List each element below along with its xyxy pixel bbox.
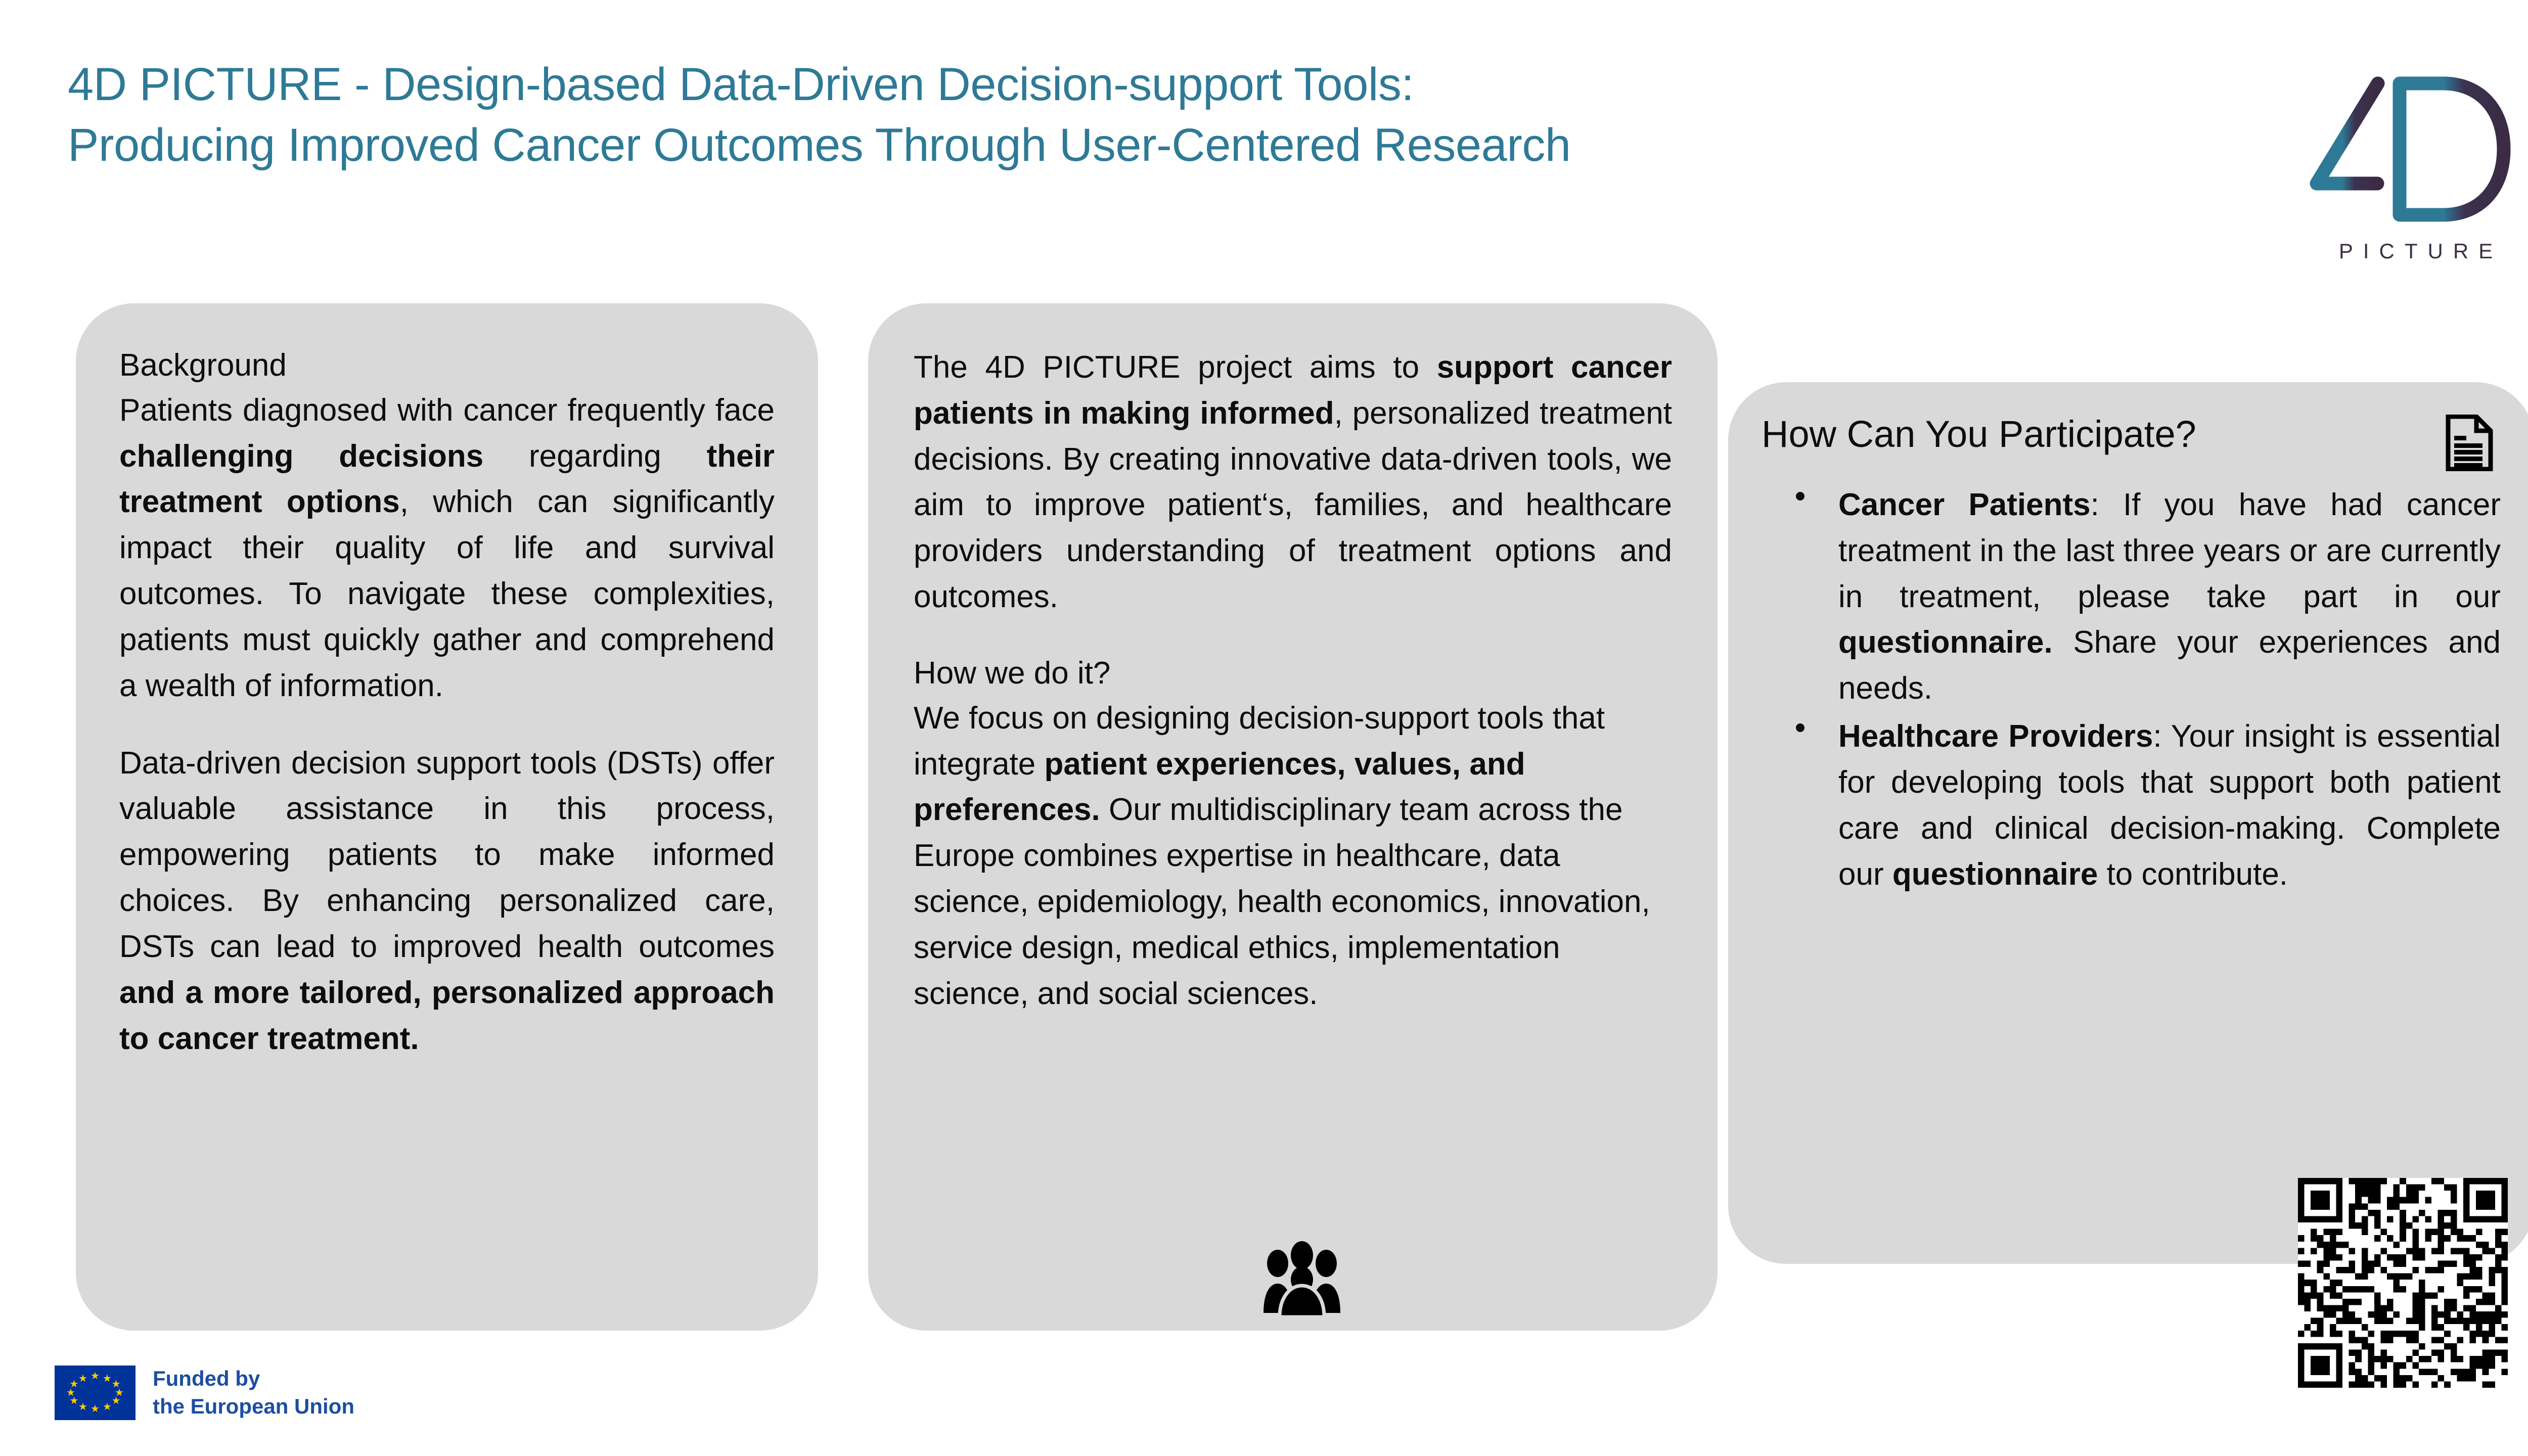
- questionnaire-qr-code[interactable]: [2298, 1178, 2508, 1388]
- participate-card: How Can You Participate? Cancer Patients…: [1728, 382, 2528, 1264]
- eu-star: ★: [69, 1379, 78, 1389]
- card1-paragraph-2: Data-driven decision support tools (DSTs…: [119, 741, 775, 1062]
- list-item: Healthcare Providers: Your insight is es…: [1782, 714, 2501, 897]
- card2-heading: How we do it?: [914, 652, 1672, 696]
- bullet-dot: [1796, 723, 1804, 732]
- background-card: Background Patients diagnosed with cance…: [76, 303, 818, 1331]
- bullet-text: Cancer Patients: If you have had cancer …: [1838, 487, 2501, 706]
- brand-logo: PICTURE: [2285, 48, 2528, 291]
- eu-star: ★: [112, 1396, 121, 1406]
- eu-funding-logo: ★★★★★★★★★★★★ Funded by the European Unio…: [55, 1365, 354, 1420]
- spacer: [914, 620, 1672, 652]
- card2-paragraph-1: The 4D PICTURE project aims to support c…: [914, 345, 1672, 620]
- eu-funding-text: Funded by the European Union: [153, 1365, 354, 1420]
- qr-matrix: [2298, 1178, 2508, 1388]
- page-title: 4D PICTURE - Design-based Data-Driven De…: [68, 55, 2303, 175]
- eu-star: ★: [78, 1402, 87, 1412]
- eu-star: ★: [78, 1374, 87, 1384]
- logo-wordmark: PICTURE: [2285, 239, 2528, 263]
- card3-heading: How Can You Participate?: [1762, 414, 2196, 454]
- list-item: Cancer Patients: If you have had cancer …: [1782, 482, 2501, 712]
- participation-list: Cancer Patients: If you have had cancer …: [1782, 482, 2501, 897]
- bullet-text: Healthcare Providers: Your insight is es…: [1838, 719, 2501, 891]
- eu-star: ★: [103, 1374, 112, 1384]
- eu-star: ★: [103, 1402, 112, 1412]
- logo-4d-icon: [2306, 48, 2523, 235]
- project-aims-card: The 4D PICTURE project aims to support c…: [868, 303, 1718, 1331]
- card1-paragraph-1: Patients diagnosed with cancer frequentl…: [119, 388, 775, 709]
- card1-heading: Background: [119, 344, 775, 388]
- spacer: [119, 709, 775, 741]
- people-group-icon: [1251, 1241, 1352, 1317]
- eu-star: ★: [91, 1404, 100, 1414]
- eu-star: ★: [91, 1371, 100, 1381]
- poster-canvas: 4D PICTURE - Design-based Data-Driven De…: [0, 0, 2528, 1456]
- eu-flag: ★★★★★★★★★★★★: [55, 1366, 136, 1420]
- card2-paragraph-2: We focus on designing decision-support t…: [914, 696, 1672, 1017]
- bullet-dot: [1796, 492, 1804, 500]
- document-icon: [2445, 415, 2494, 471]
- card3-header-row: How Can You Participate?: [1782, 414, 2501, 471]
